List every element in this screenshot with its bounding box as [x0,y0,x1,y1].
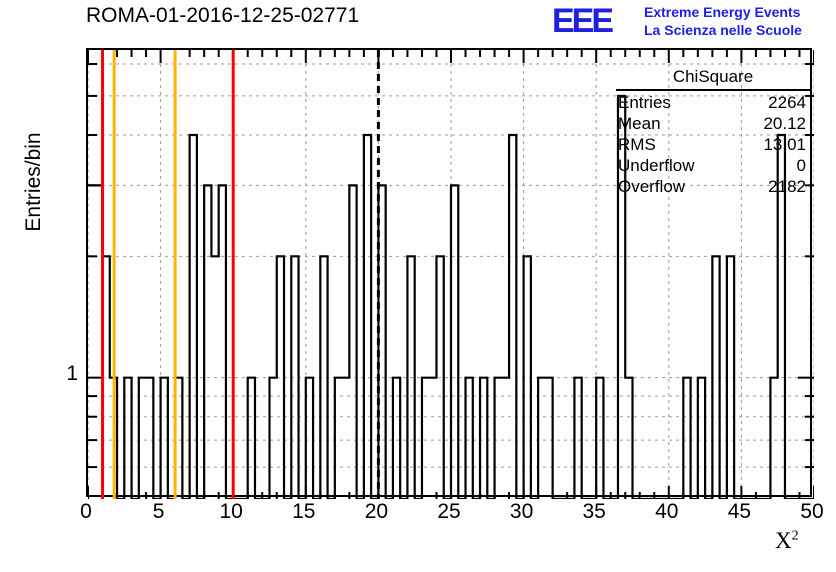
x-tick-label-25: 25 [419,500,479,524]
stats-row: RMS13.01 [614,134,812,155]
stats-rows: Entries2264Mean20.12RMS13.01Underflow0Ov… [614,92,812,197]
x-axis-title: X2 [775,528,799,554]
stats-row-label: Overflow [618,176,685,197]
x-tick-label-0: 0 [56,500,116,524]
stats-row-value: 13.01 [763,134,806,155]
x-tick-label-30: 30 [492,500,552,524]
page-title: ROMA-01-2016-12-25-02771 [86,4,359,28]
x-tick-label-20: 20 [346,500,406,524]
stats-row-value: 0 [797,155,806,176]
stats-row-label: Mean [618,113,661,134]
x-tick-label-5: 5 [129,500,189,524]
eee-logo-text: Extreme Energy Events La Scienza nelle S… [644,3,802,39]
x-tick-label-10: 10 [201,500,261,524]
y-tick-label-1: 1 [38,362,78,386]
stats-row-value: 2182 [768,176,806,197]
stats-row: Mean20.12 [614,113,812,134]
stats-row-value: 20.12 [763,113,806,134]
x-tick-label-45: 45 [709,500,769,524]
stats-row: Overflow2182 [614,176,812,197]
eee-logo-line2: La Scienza nelle Scuole [644,21,802,39]
x-axis-title-base: X [775,528,792,553]
x-tick-label-40: 40 [637,500,697,524]
x-tick-label-50: 50 [782,500,836,524]
stats-row: Underflow0 [614,155,812,176]
eee-logo-line1: Extreme Energy Events [644,3,802,21]
y-axis-title: Entries/bin [22,82,46,282]
stats-box: ChiSquare Entries2264Mean20.12RMS13.01Un… [614,66,812,202]
eee-logo-mark: EEE [552,4,611,38]
stats-title: ChiSquare [614,66,812,87]
stats-divider [616,89,810,91]
x-tick-label-35: 35 [564,500,624,524]
stats-row: Entries2264 [614,92,812,113]
x-axis-title-exponent: 2 [792,528,799,543]
eee-logo: EEE Extreme Energy Events La Scienza nel… [552,2,834,42]
stats-row-label: Underflow [618,155,695,176]
stats-row-value: 2264 [768,92,806,113]
stats-row-label: Entries [618,92,671,113]
x-tick-label-15: 15 [274,500,334,524]
stats-row-label: RMS [618,134,656,155]
